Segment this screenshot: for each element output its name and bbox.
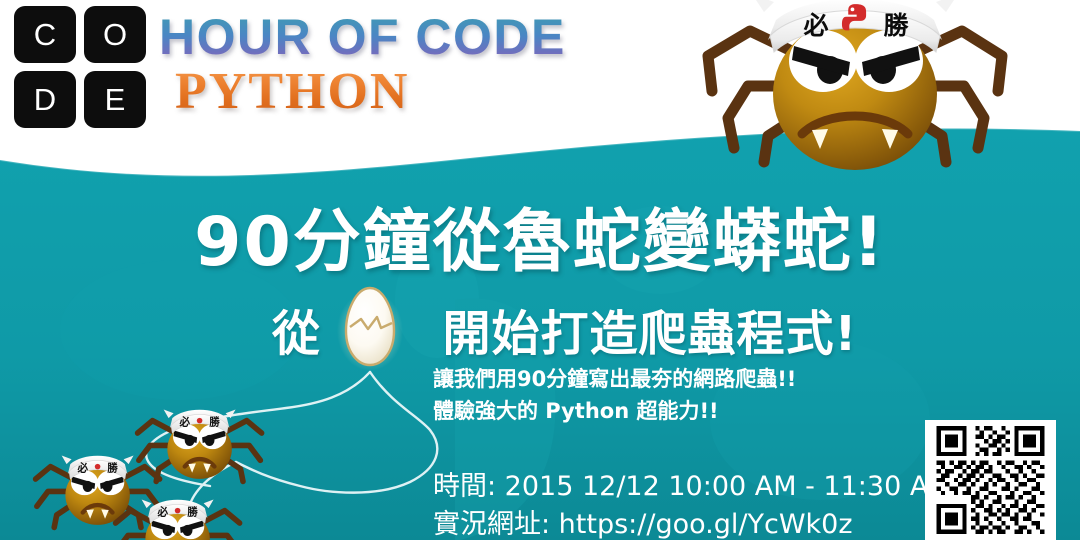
body-line-2: 體驗強大的 Python 超能力!! (433, 395, 796, 427)
code-tile-c: C (14, 6, 76, 63)
headband-char-left: 必 (803, 11, 828, 40)
poster-canvas: C O D E HOUR OF CODE PYTHON (0, 0, 1080, 540)
event-info: 時間: 2015 12/12 10:00 AM - 11:30 AM 實況網址:… (433, 468, 952, 540)
hour-of-code-wordmark: HOUR OF CODE (159, 8, 566, 66)
subline-after-egg: 開始打造爬蟲程式! (442, 306, 857, 362)
qr-code-image (931, 426, 1050, 534)
svg-text:勝: 勝 (187, 506, 198, 519)
python-wordmark: PYTHON (175, 62, 409, 121)
body-copy: 讓我們用90分鐘寫出最夯的網路爬蟲!! 體驗強大的 Python 超能力!! (433, 363, 796, 427)
event-time: 時間: 2015 12/12 10:00 AM - 11:30 AM (433, 468, 952, 506)
spider-mascot-large: 必 勝 (690, 0, 1020, 181)
code-tile-e: E (84, 71, 146, 128)
svg-text:必: 必 (156, 506, 168, 519)
spider-mascot-small-3: 必 勝 (116, 499, 240, 540)
spider-mascots-small: 必 勝 必 勝 (30, 395, 360, 540)
headband-char-right: 勝 (883, 11, 909, 40)
svg-text:必: 必 (76, 462, 88, 475)
code-org-logo: C O D E (14, 6, 150, 130)
qr-code[interactable] (925, 420, 1056, 540)
body-line-1: 讓我們用90分鐘寫出最夯的網路爬蟲!! (433, 363, 796, 395)
code-tile-d: D (14, 71, 76, 128)
cracked-egg-icon (337, 283, 403, 371)
spider-mascot-small-1: 必 勝 (138, 409, 262, 481)
code-tile-o: O (84, 6, 146, 63)
page-headline: 90分鐘從魯蛇變蟒蛇! (0, 186, 1080, 285)
subline-before-egg: 從 (272, 306, 321, 362)
event-stream-url[interactable]: 實況網址: https://goo.gl/YcWk0z (433, 506, 952, 540)
svg-text:必: 必 (178, 416, 190, 429)
svg-text:勝: 勝 (209, 416, 220, 429)
svg-text:勝: 勝 (107, 462, 118, 475)
